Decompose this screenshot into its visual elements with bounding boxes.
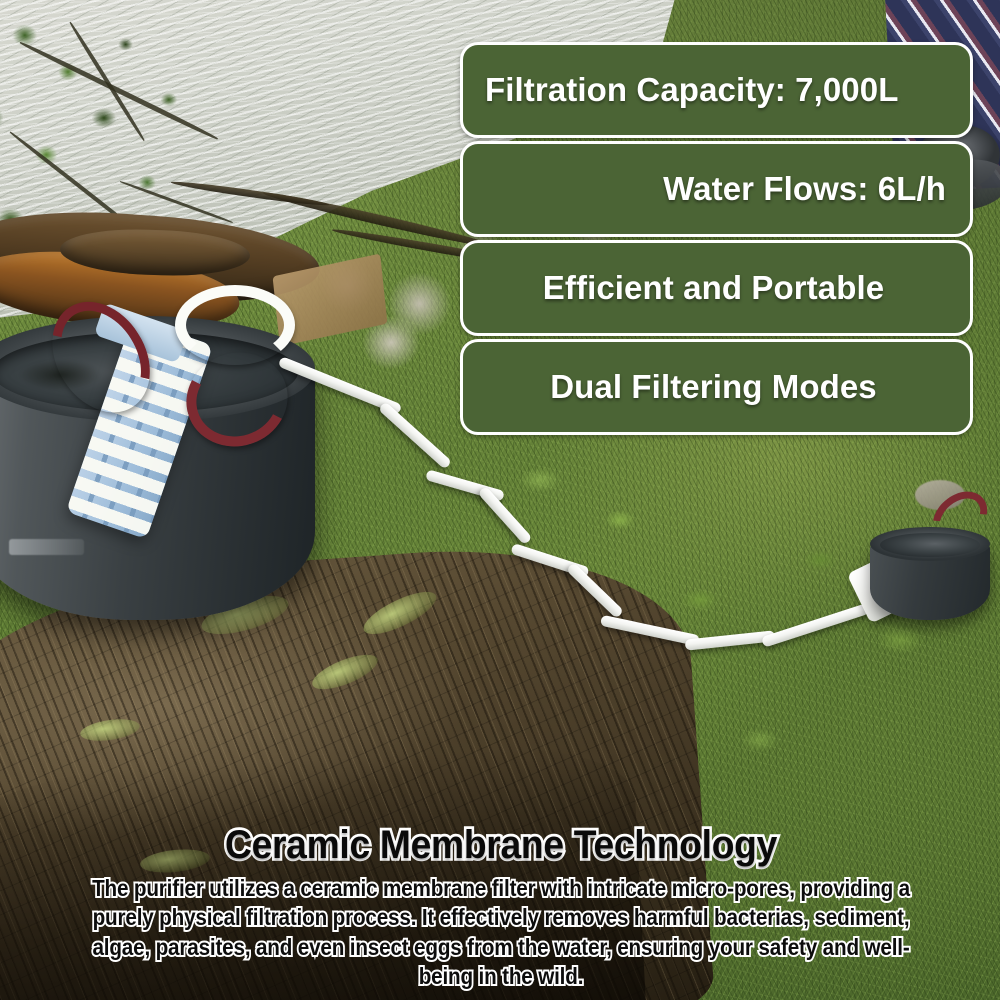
product-feature-image: Filtration Capacity: 7,000L Water Flows:… [0,0,1000,1000]
feature-badge-water-flows: Water Flows: 6L/h [460,141,973,237]
feature-badge-dual-filtering-modes: Dual Filtering Modes [460,339,973,435]
feature-badge-label: Filtration Capacity: 7,000L [463,71,970,109]
feature-badge-filtration-capacity: Filtration Capacity: 7,000L [460,42,973,138]
feature-badge-label: Efficient and Portable [463,269,970,307]
hose-loop [175,285,295,365]
feature-badge-efficient-and-portable: Efficient and Portable [460,240,973,336]
caption-description: The purifier utilizes a ceramic membrane… [76,874,926,992]
bottom-caption-block: Ceramic Membrane Technology The purifier… [0,823,1000,992]
pot-brand-mark [9,539,84,555]
clean-water-surface [880,533,981,558]
feature-badge-label: Water Flows: 6L/h [463,170,970,208]
clean-water-pot [870,525,990,620]
feature-badge-label: Dual Filtering Modes [463,368,970,406]
caption-headline: Ceramic Membrane Technology [52,823,950,868]
feature-badge-list: Filtration Capacity: 7,000L Water Flows:… [460,42,973,435]
